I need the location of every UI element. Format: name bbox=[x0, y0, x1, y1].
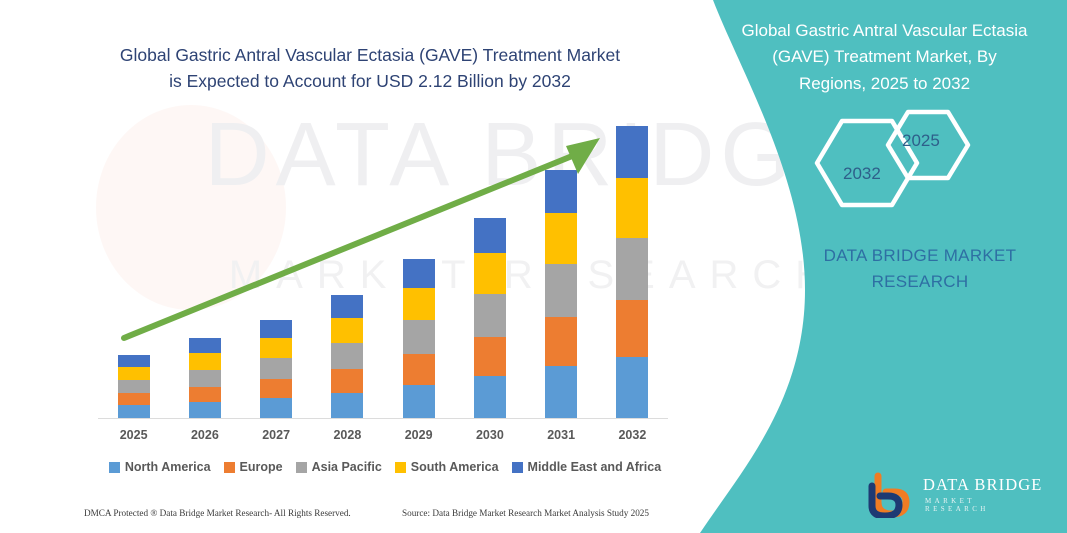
panel-brand-text: DATA BRIDGE MARKET RESEARCH bbox=[770, 243, 1067, 294]
legend-item[interactable]: Europe bbox=[224, 460, 283, 474]
logo-subtitle: MARKET RESEARCH bbox=[925, 497, 1043, 513]
legend-item[interactable]: Asia Pacific bbox=[296, 460, 382, 474]
panel-title-line-3: Regions, 2025 to 2032 bbox=[722, 71, 1047, 97]
legend-label: Middle East and Africa bbox=[528, 460, 662, 474]
legend-label: Europe bbox=[240, 460, 283, 474]
chart-legend: North AmericaEuropeAsia PacificSouth Ame… bbox=[98, 460, 672, 474]
infographic-canvas: DATA BRIDGE MARKET RESEARCH Global Gastr… bbox=[0, 0, 1067, 533]
x-axis-label: 2028 bbox=[331, 428, 363, 442]
x-axis-label: 2029 bbox=[403, 428, 435, 442]
legend-swatch bbox=[109, 462, 120, 473]
legend-item[interactable]: South America bbox=[395, 460, 499, 474]
x-axis-label: 2025 bbox=[118, 428, 150, 442]
x-axis-label: 2031 bbox=[545, 428, 577, 442]
data-bridge-mark-icon bbox=[868, 472, 918, 518]
panel-brand-line-2: RESEARCH bbox=[770, 269, 1067, 295]
footer-copyright: DMCA Protected ® Data Bridge Market Rese… bbox=[84, 508, 351, 518]
legend-item[interactable]: North America bbox=[109, 460, 211, 474]
x-axis-label: 2030 bbox=[474, 428, 506, 442]
logo-name: DATA BRIDGE bbox=[923, 475, 1042, 495]
x-axis-label: 2026 bbox=[189, 428, 221, 442]
x-axis-label: 2027 bbox=[260, 428, 292, 442]
stacked-bar-chart: 20252026202720282029203020312032 North A… bbox=[0, 0, 700, 533]
legend-swatch bbox=[296, 462, 307, 473]
panel-title-line-1: Global Gastric Antral Vascular Ectasia bbox=[722, 18, 1047, 44]
x-axis-labels: 20252026202720282029203020312032 bbox=[98, 428, 668, 442]
legend-swatch bbox=[512, 462, 523, 473]
footer-source: Source: Data Bridge Market Research Mark… bbox=[402, 508, 649, 518]
hexagon-end-year-label: 2032 bbox=[843, 164, 881, 184]
legend-label: South America bbox=[411, 460, 499, 474]
year-hexagons: 2032 2025 bbox=[800, 108, 1000, 218]
panel-title: Global Gastric Antral Vascular Ectasia (… bbox=[722, 18, 1047, 97]
panel-brand-line-1: DATA BRIDGE MARKET bbox=[770, 243, 1067, 269]
x-axis-label: 2032 bbox=[616, 428, 648, 442]
legend-swatch bbox=[224, 462, 235, 473]
data-bridge-logo: DATA BRIDGE MARKET RESEARCH bbox=[868, 472, 1043, 520]
growth-arrow-icon bbox=[0, 0, 700, 533]
legend-label: North America bbox=[125, 460, 211, 474]
panel-title-line-2: (GAVE) Treatment Market, By bbox=[722, 44, 1047, 70]
hexagon-start-year-label: 2025 bbox=[902, 131, 940, 151]
legend-label: Asia Pacific bbox=[312, 460, 382, 474]
legend-item[interactable]: Middle East and Africa bbox=[512, 460, 662, 474]
legend-swatch bbox=[395, 462, 406, 473]
